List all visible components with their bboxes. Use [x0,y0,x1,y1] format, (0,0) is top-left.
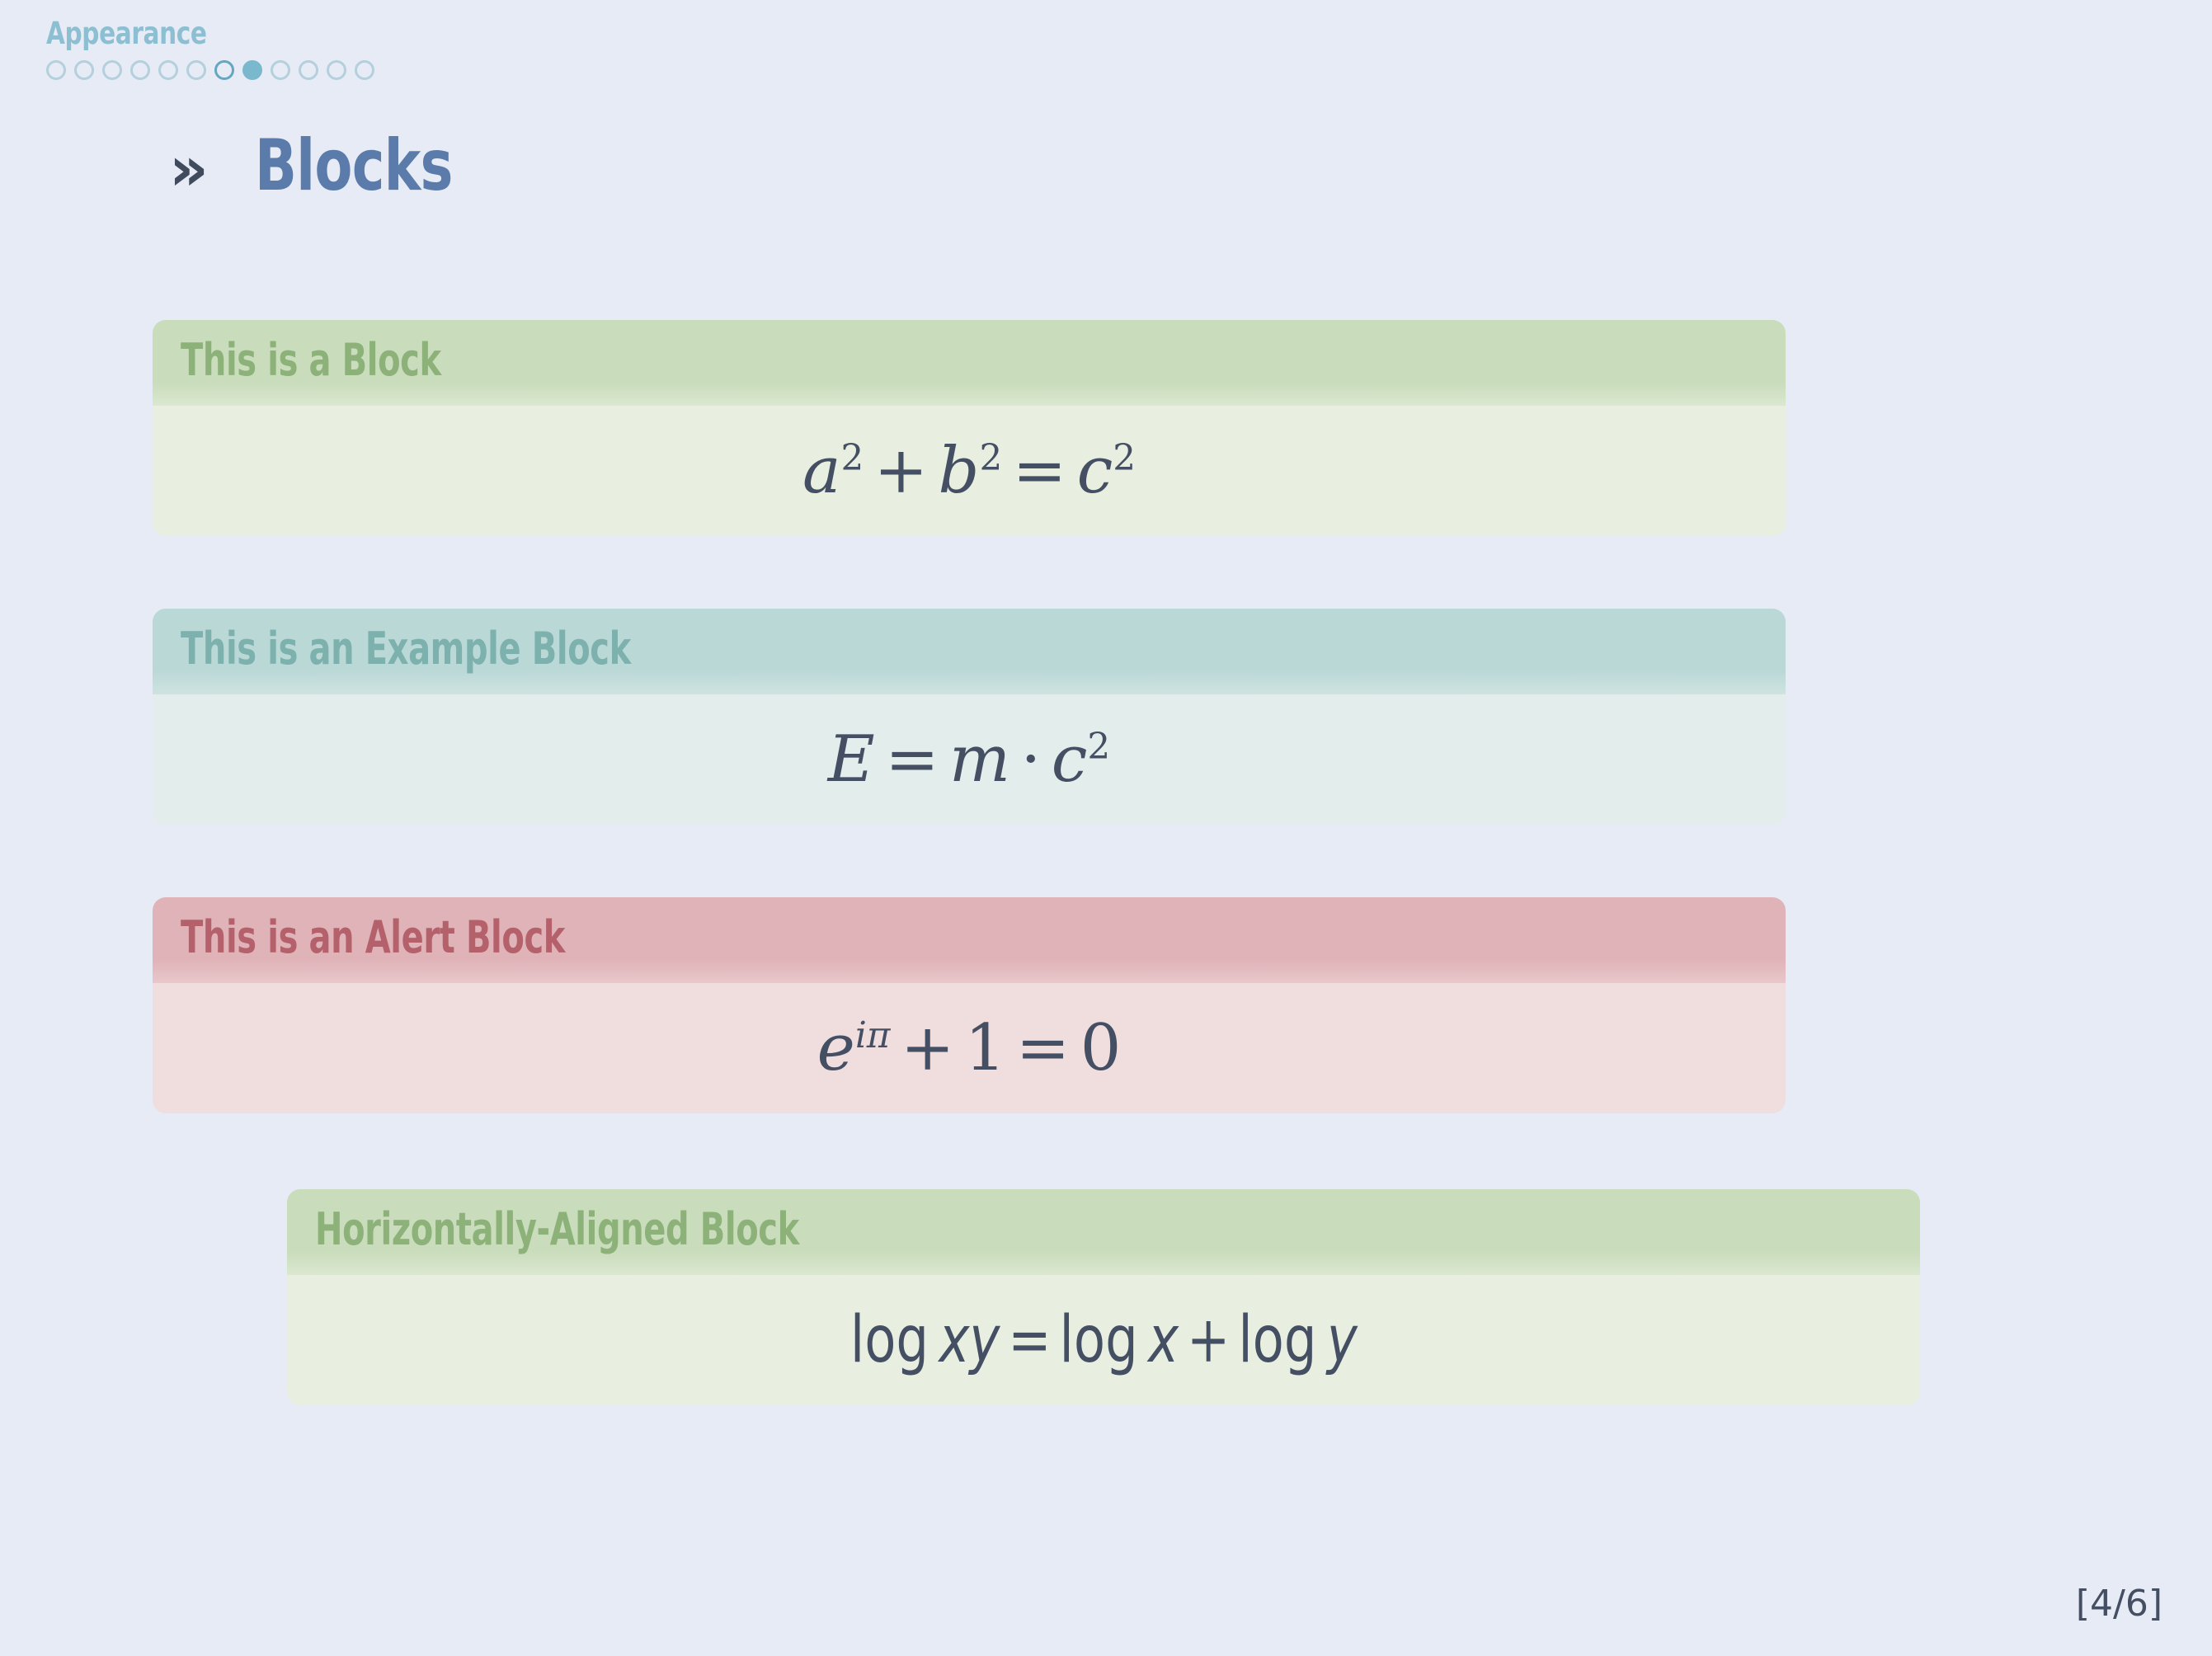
block-body: eiπ+1=0 [153,983,1786,1113]
progress-dot-6[interactable] [186,60,206,80]
formula-operator: = [1002,434,1076,508]
block-title: This is a Block [181,338,441,383]
section-label: Appearance [46,18,970,49]
formula-term: x [1148,1303,1179,1377]
block-title: This is an Example Block [181,627,631,671]
formula-term: E [828,722,875,797]
page-number: [4/6] [2076,1583,2163,1625]
block-title: This is an Alert Block [181,915,565,960]
block-header: Horizontally-Aligned Block [287,1189,1920,1275]
block-this-is-an-alert-block: This is an Alert Block eiπ+1=0 [153,897,1786,1113]
formula-term: xy [939,1303,1000,1377]
formula-term: 0 [1080,1011,1122,1085]
progress-dot-3[interactable] [102,60,122,80]
progress-dot-row [46,60,1201,80]
progress-dot-7[interactable] [214,60,234,80]
block-horizontally-aligned-block: Horizontally-Aligned Block log xy=log x+… [287,1189,1920,1405]
block-body: E=m·c2 [153,694,1786,825]
formula-operator: = [1000,1303,1059,1377]
formula-exponent: 2 [1113,437,1136,479]
formula-term: c [1052,722,1088,797]
page-title: Blocks [255,130,453,201]
formula-operator: + [1179,1303,1238,1377]
formula-term: b [939,434,980,508]
block-title: Horizontally-Aligned Block [315,1207,799,1252]
frame-title: » Blocks [169,130,480,201]
formula-function: log [850,1303,929,1377]
progress-dot-12[interactable] [355,60,374,80]
formula-pythagorean: a2+b2=c2 [802,439,1136,503]
progress-dot-11[interactable] [327,60,346,80]
block-header: This is a Block [153,320,1786,406]
formula-exponent: 2 [1087,726,1110,768]
formula-term: m [949,722,1010,797]
formula-term: a [802,434,841,508]
formula-function: log [1238,1303,1316,1377]
block-this-is-a-block: This is a Block a2+b2=c2 [153,320,1786,536]
progress-dot-9[interactable] [271,60,290,80]
block-body: log xy=log x+log y [287,1275,1920,1405]
formula-term: 1 [965,1011,1006,1085]
section-navigation: Appearance [46,18,1201,80]
formula-function: log [1059,1303,1137,1377]
progress-dot-8[interactable] [242,60,262,80]
progress-dot-1[interactable] [46,60,66,80]
formula-operator: + [864,434,938,508]
formula-euler-identity: eiπ+1=0 [817,1016,1122,1080]
formula-term: c [1077,434,1113,508]
formula-operator: + [890,1011,964,1085]
block-body: a2+b2=c2 [153,406,1786,536]
formula-term: y [1327,1303,1358,1377]
formula-exponent: 2 [840,437,864,479]
formula-operator: · [1010,722,1052,797]
formula-mass-energy: E=m·c2 [828,727,1110,792]
progress-dot-2[interactable] [74,60,94,80]
formula-operator: = [1005,1011,1080,1085]
progress-dot-10[interactable] [299,60,318,80]
formula-exponent: iπ [855,1014,891,1056]
chevron-double-right-icon: » [169,139,209,200]
progress-dot-4[interactable] [130,60,150,80]
slide-canvas: Appearance » Blocks This is a Block a2+b… [0,0,2212,1656]
block-header: This is an Example Block [153,609,1786,694]
formula-logarithm-product: log xy=log x+log y [850,1308,1358,1372]
block-header: This is an Alert Block [153,897,1786,983]
block-this-is-an-example-block: This is an Example Block E=m·c2 [153,609,1786,825]
formula-term: e [817,1011,855,1085]
progress-dot-5[interactable] [158,60,178,80]
formula-exponent: 2 [979,437,1002,479]
formula-operator: = [875,722,949,797]
